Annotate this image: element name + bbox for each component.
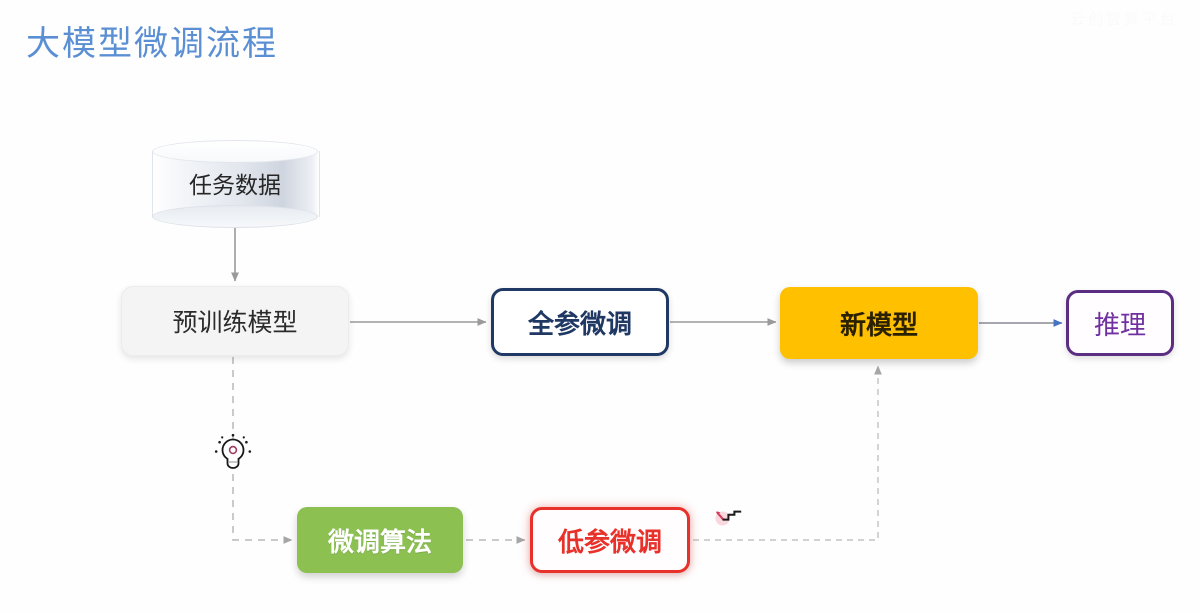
node-finetune-algorithm[interactable]: 微调算法 [297,507,463,573]
node-pretrained-model[interactable]: 预训练模型 [121,286,349,356]
down-trend-arrow-icon [714,506,744,530]
node-task-data[interactable]: 任务数据 [152,140,318,228]
watermark-label: 云创智算平台 [1070,8,1178,29]
node-task-data-label: 任务数据 [152,166,318,200]
node-finetune-algorithm-label: 微调算法 [328,522,432,559]
node-full-param-finetune[interactable]: 全参微调 [491,288,669,356]
node-low-param-finetune[interactable]: 低参微调 [530,507,690,573]
node-new-model[interactable]: 新模型 [780,287,978,359]
page-title: 大模型微调流程 [26,16,278,65]
node-pretrained-model-label: 预训练模型 [172,303,297,339]
node-inference[interactable]: 推理 [1066,290,1174,356]
node-inference-label: 推理 [1094,305,1146,342]
node-low-param-finetune-label: 低参微调 [558,522,662,559]
diagram-canvas: 大模型微调流程 云创智算平台 [0,0,1200,613]
lightbulb-icon [211,430,255,476]
node-new-model-label: 新模型 [840,305,918,342]
node-full-param-finetune-label: 全参微调 [528,304,632,341]
cylinder-bottom-ellipse [152,205,318,228]
cylinder-top-ellipse [152,140,318,163]
